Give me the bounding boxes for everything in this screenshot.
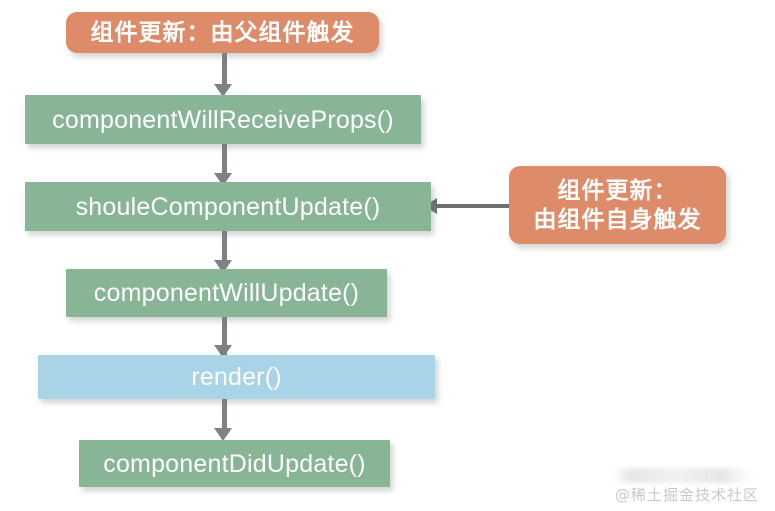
node-trigger-self[interactable]: 组件更新： 由组件自身触发 — [509, 166, 726, 244]
node-render[interactable]: render() — [38, 355, 435, 399]
node-trigger-parent[interactable]: 组件更新：由父组件触发 — [66, 12, 379, 53]
connector-trigger-self-to-should-update — [436, 204, 511, 208]
node-component-did-update[interactable]: componentDidUpdate() — [79, 440, 390, 487]
node-component-will-receive-props[interactable]: componentWillReceiveProps() — [25, 95, 421, 144]
watermark-smudge — [614, 468, 752, 483]
node-component-will-update[interactable]: componentWillUpdate() — [66, 269, 387, 317]
node-should-component-update[interactable]: shouleComponentUpdate() — [25, 182, 431, 231]
diagram-canvas: 组件更新：由父组件触发 componentWillReceiveProps() … — [0, 0, 775, 511]
watermark-text: @稀土掘金技术社区 — [615, 484, 759, 505]
